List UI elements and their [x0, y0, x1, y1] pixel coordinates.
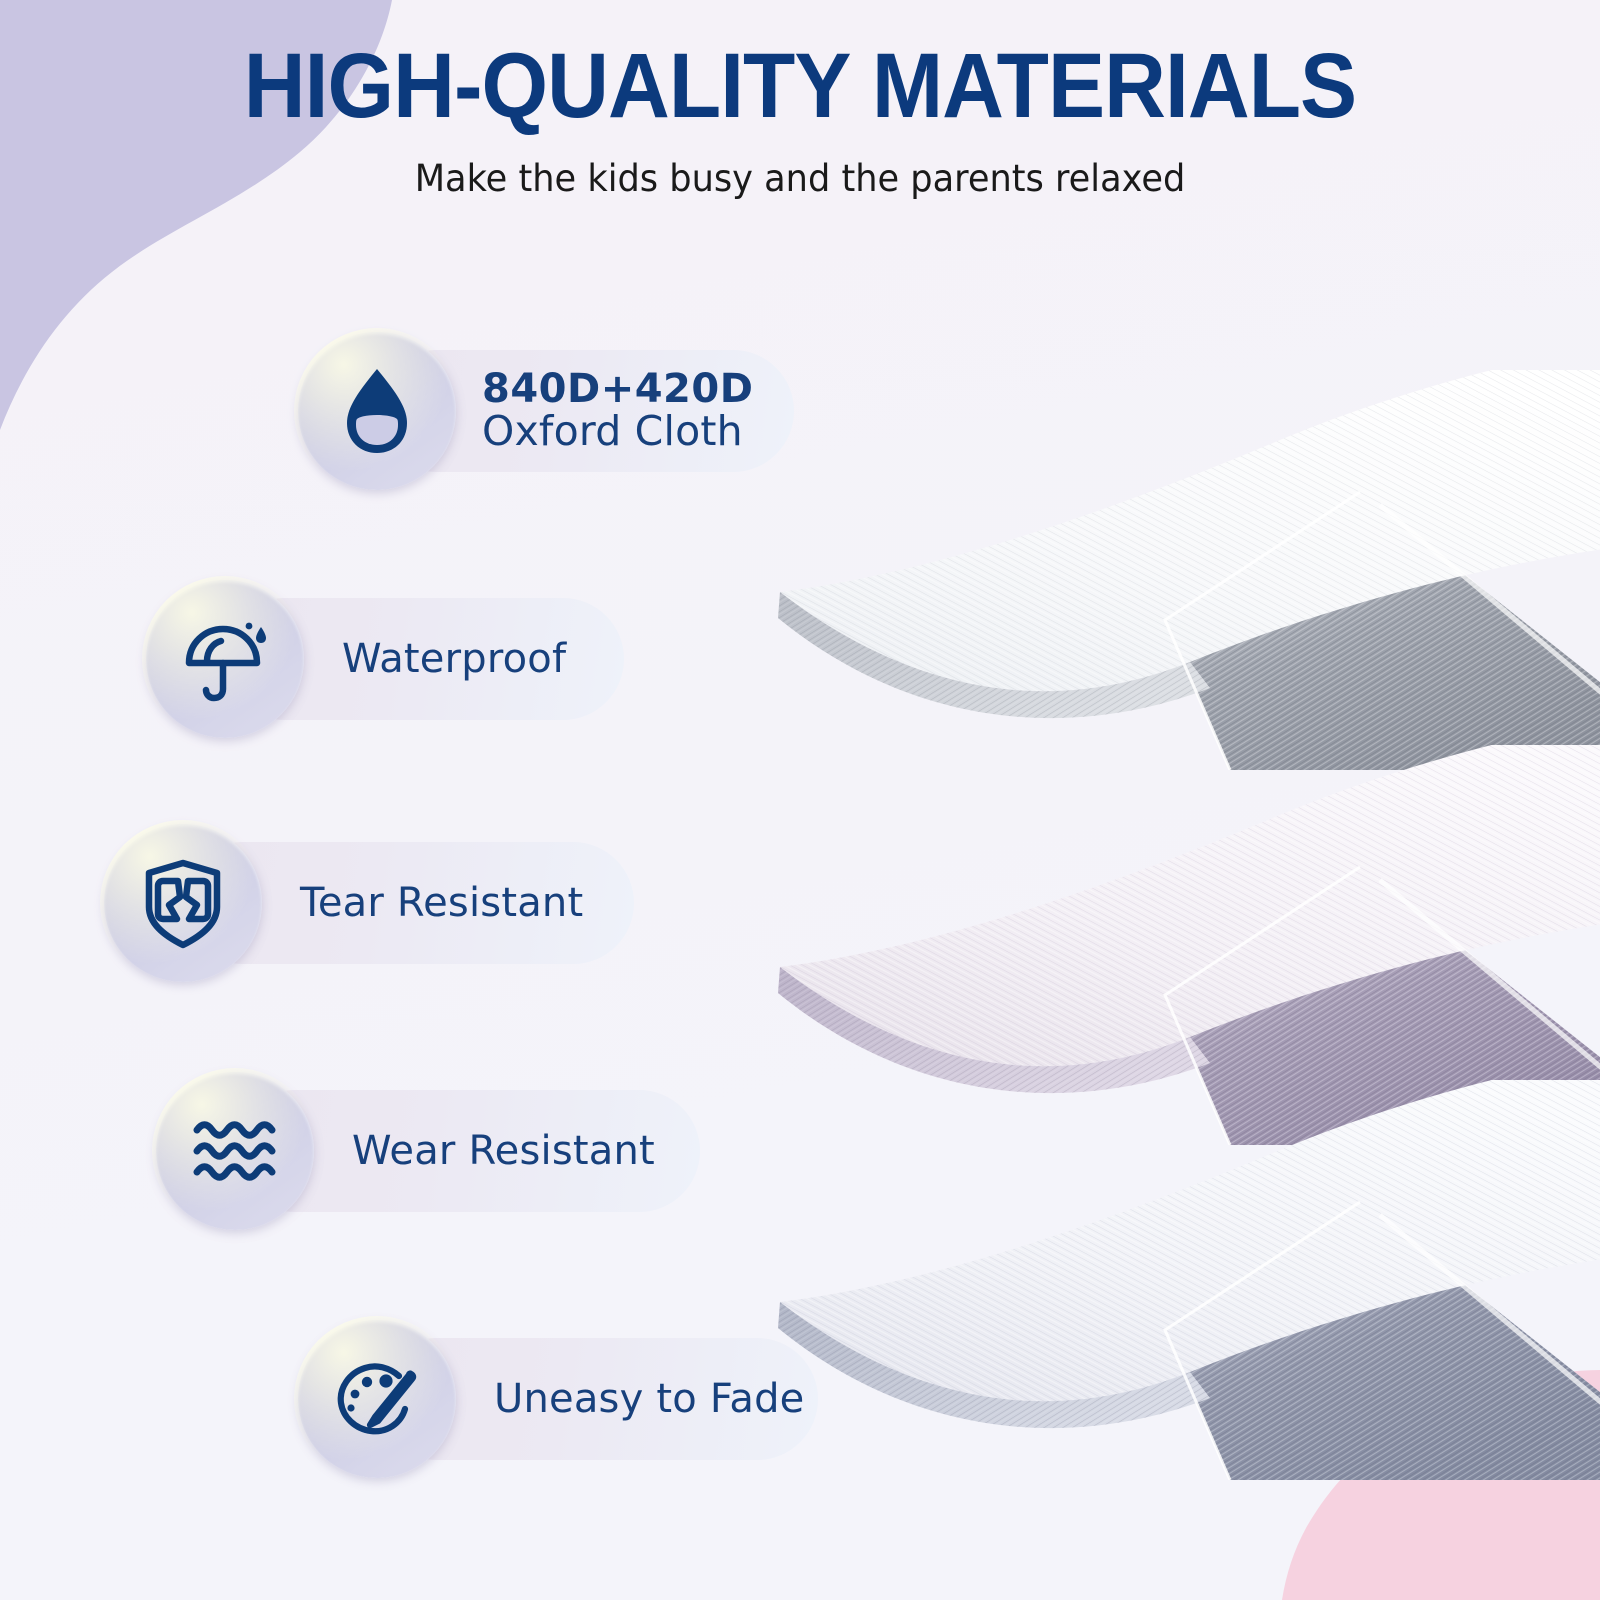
infographic-canvas: HIGH-QUALITY MATERIALS Make the kids bus…	[0, 0, 1600, 1600]
water-droplet-icon	[329, 363, 425, 459]
feature-icon-circle[interactable]	[156, 1072, 314, 1230]
feature-icon-circle[interactable]	[146, 580, 304, 738]
paint-palette-icon	[329, 1351, 425, 1447]
wave-lines-icon	[187, 1103, 283, 1199]
page-title: HIGH-QUALITY MATERIALS	[56, 0, 1544, 135]
fabric-swatch-white	[760, 370, 1600, 770]
feature-icon-circle[interactable]	[298, 1320, 456, 1478]
feature-icon-circle[interactable]	[298, 332, 456, 490]
fabric-swatch-bluegray	[760, 1080, 1600, 1480]
umbrella-rain-icon	[177, 611, 273, 707]
feature-label-secondary: Oxford Cloth	[482, 410, 753, 454]
feature-label-primary: 840D+420D	[482, 368, 753, 411]
feature-icon-circle[interactable]	[104, 824, 262, 982]
shield-tear-icon	[137, 857, 229, 949]
header: HIGH-QUALITY MATERIALS Make the kids bus…	[0, 0, 1600, 200]
page-subtitle: Make the kids busy and the parents relax…	[40, 135, 1560, 200]
